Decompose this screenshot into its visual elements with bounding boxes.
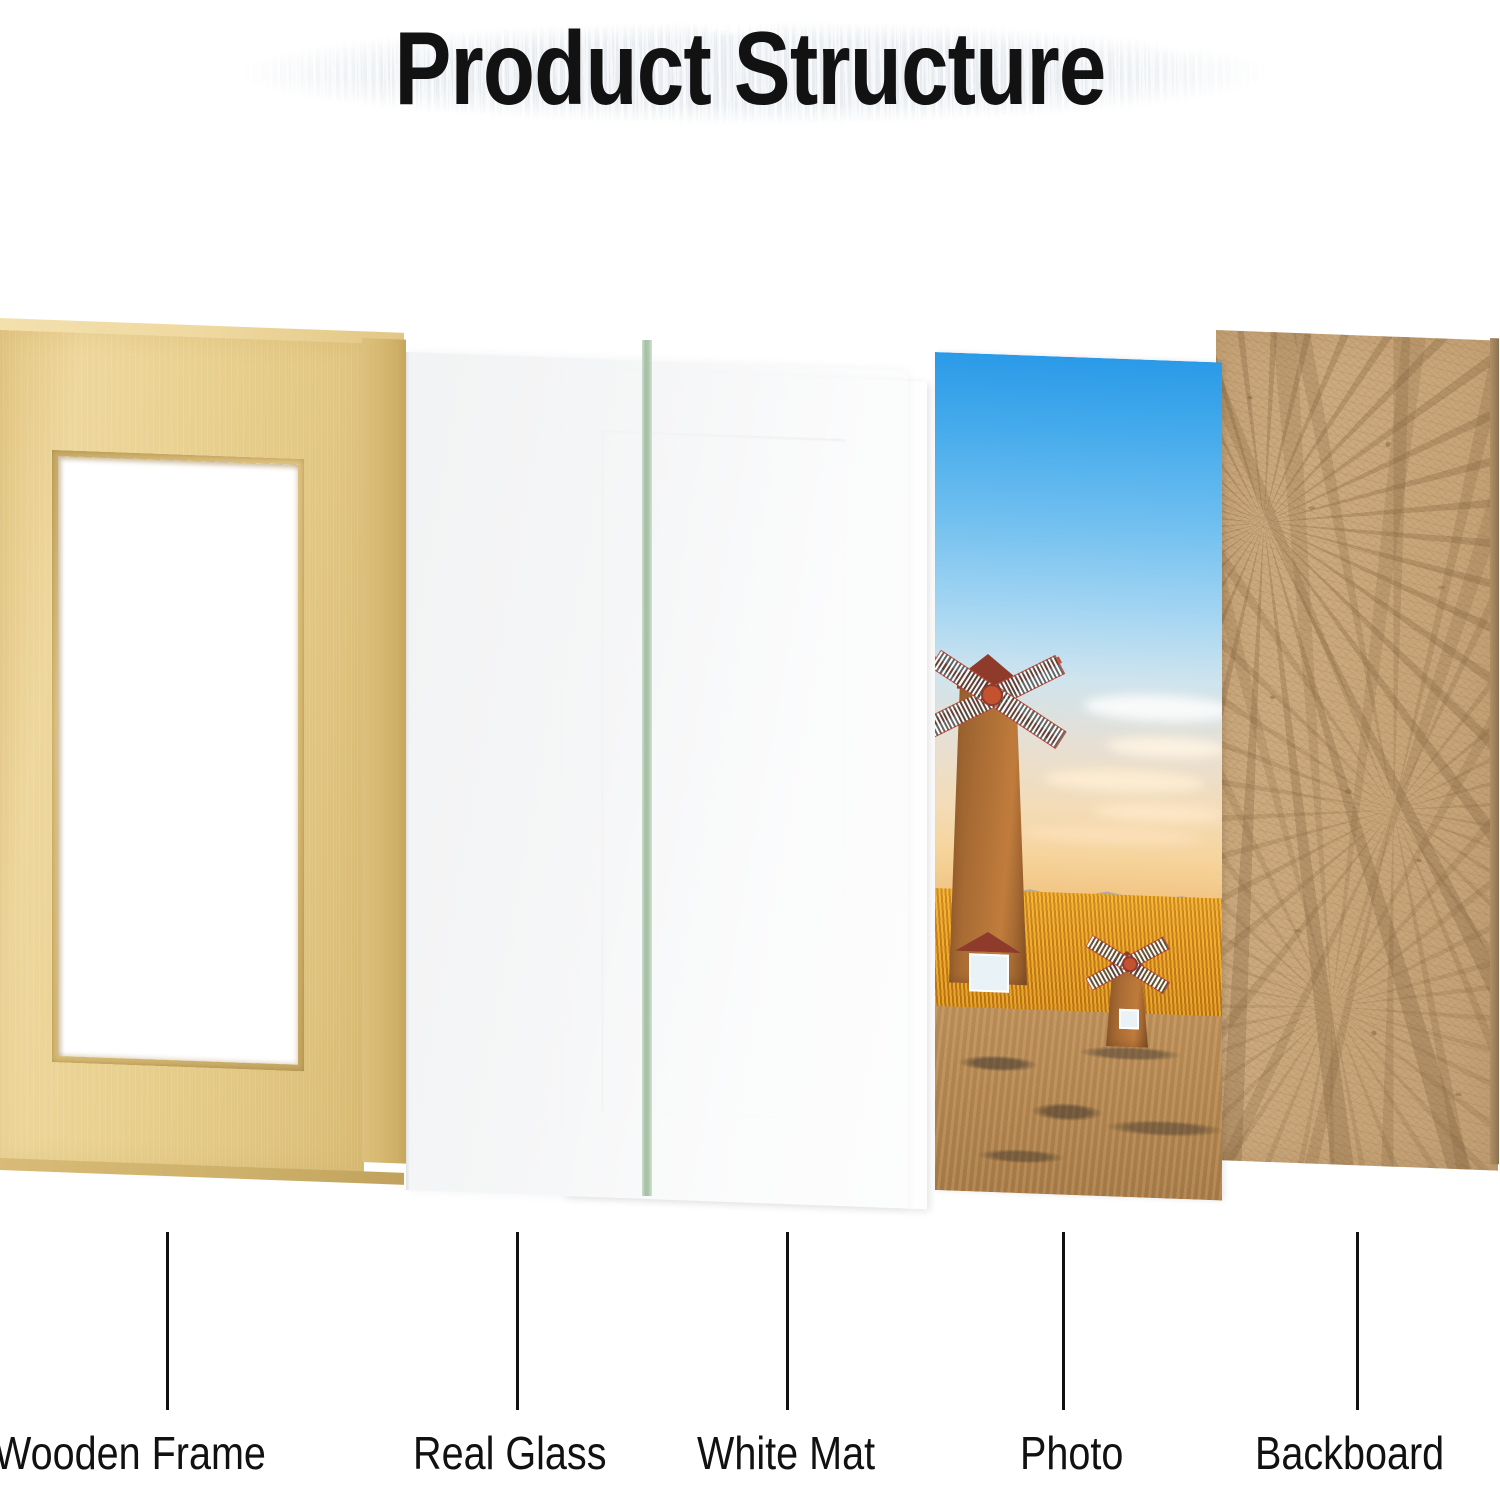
windmill-large-window xyxy=(969,953,1009,992)
photo-print xyxy=(935,352,1222,1201)
leader-line-white-mat xyxy=(786,1232,789,1410)
product-structure-diagram: Product Structure xyxy=(0,0,1500,1493)
glass-green-edge xyxy=(642,340,652,1196)
leader-line-photo xyxy=(1062,1232,1065,1410)
leader-line-wooden-frame xyxy=(166,1232,169,1410)
frame-opening xyxy=(58,456,298,1065)
glass-pane xyxy=(408,352,908,1208)
label-backboard: Backboard xyxy=(1255,1424,1444,1482)
layer-labels: Wooden Frame Real Glass White Mat Photo … xyxy=(0,1424,1500,1493)
glass-left-edge xyxy=(406,352,409,1190)
windmill-large-hub xyxy=(981,684,1003,707)
leader-line-real-glass xyxy=(516,1232,519,1410)
label-wooden-frame: Wooden Frame xyxy=(0,1424,266,1482)
windmill-small-window xyxy=(1119,1009,1139,1030)
leader-line-backboard xyxy=(1356,1232,1359,1410)
label-white-mat: White Mat xyxy=(697,1424,875,1482)
exploded-layer-stack xyxy=(0,0,1500,1260)
backboard-panel xyxy=(1216,330,1498,1171)
label-photo: Photo xyxy=(1020,1424,1123,1482)
photo-sandy-ground xyxy=(935,1006,1222,1201)
backboard-side-edge xyxy=(1490,338,1499,1164)
backboard-fiber-texture xyxy=(1216,330,1498,1171)
frame-side-depth xyxy=(362,338,406,1164)
label-real-glass: Real Glass xyxy=(413,1424,606,1482)
windmill-small-hub xyxy=(1122,956,1138,973)
